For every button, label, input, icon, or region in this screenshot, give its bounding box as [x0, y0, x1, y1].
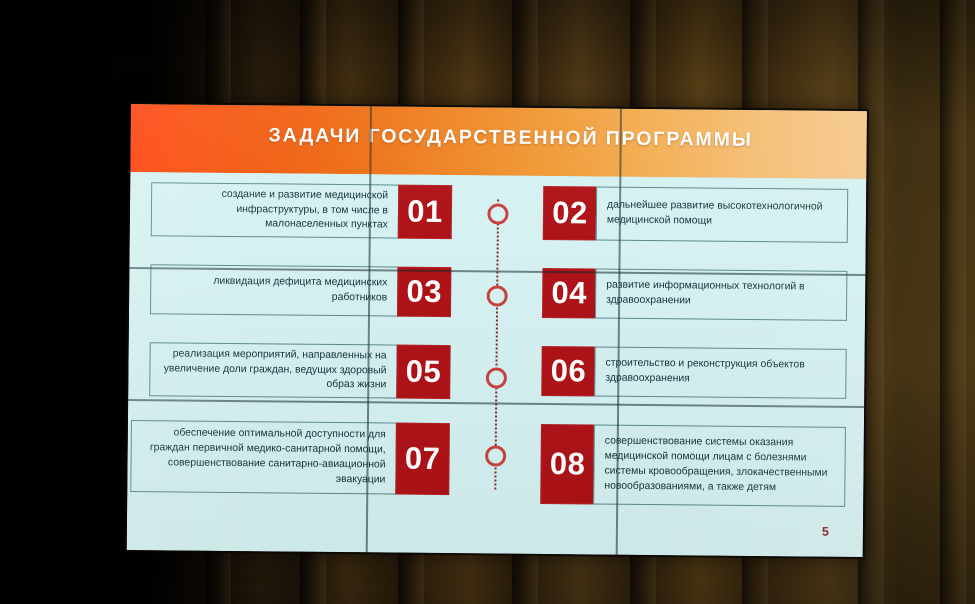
task-text: обеспечение оптимальной доступности для … [130, 420, 397, 495]
curtain-fold [940, 0, 966, 604]
task-number-badge: 04 [542, 268, 596, 319]
task-number-badge: 08 [540, 424, 595, 505]
task-text: создание и развитие медицинской инфрастр… [151, 182, 400, 238]
task-item-06: 06строительство и реконструкция объектов… [541, 346, 847, 399]
task-number-badge: 06 [541, 346, 595, 397]
task-text: совершенствование системы оказания медиц… [593, 424, 846, 506]
task-text: строительство и реконструкция объектов з… [594, 346, 846, 398]
task-item-07: 07обеспечение оптимальной доступности дл… [130, 420, 451, 495]
slide-page-number: 5 [822, 525, 829, 539]
task-item-01: 01создание и развитие медицинской инфрас… [151, 182, 454, 239]
task-item-03: 03ликвидация дефицита медицинских работн… [150, 264, 452, 317]
task-text: реализация мероприятий, направленных на … [149, 342, 398, 398]
task-number-badge: 05 [396, 345, 451, 400]
connector-ring [486, 367, 507, 388]
connector-ring [487, 203, 508, 224]
slide-surface: ЗАДАЧИ ГОСУДАРСТВЕННОЙ ПРОГРАММЫ 01созда… [127, 104, 867, 557]
connector-ring [485, 445, 506, 466]
task-number-badge: 03 [397, 267, 451, 318]
task-text: развитие информационных технологий в здр… [595, 268, 847, 320]
photo-of-presentation-screen: ЗАДАЧИ ГОСУДАРСТВЕННОЙ ПРОГРАММЫ 01созда… [0, 0, 975, 604]
task-text: ликвидация дефицита медицинских работник… [150, 264, 398, 316]
slide-header-band: ЗАДАЧИ ГОСУДАРСТВЕННОЙ ПРОГРАММЫ [130, 104, 867, 179]
task-number-badge: 07 [395, 423, 450, 496]
presentation-screen: ЗАДАЧИ ГОСУДАРСТВЕННОЙ ПРОГРАММЫ 01созда… [127, 104, 867, 557]
task-item-05: 05реализация мероприятий, направленных н… [149, 342, 452, 399]
slide-content-area: 01создание и развитие медицинской инфрас… [127, 172, 867, 557]
task-item-04: 04развитие информационных технологий в з… [542, 268, 848, 321]
connector-ring [487, 285, 508, 306]
task-item-02: 02дальнейшее развитие высокотехнологично… [543, 186, 850, 243]
task-text: дальнейшее развитие высокотехнологичной … [596, 186, 849, 242]
task-item-08: 08совершенствование системы оказания мед… [540, 424, 847, 507]
slide-title: ЗАДАЧИ ГОСУДАРСТВЕННОЙ ПРОГРАММЫ [131, 123, 867, 153]
task-number-badge: 02 [543, 186, 598, 241]
task-number-badge: 01 [398, 185, 453, 240]
